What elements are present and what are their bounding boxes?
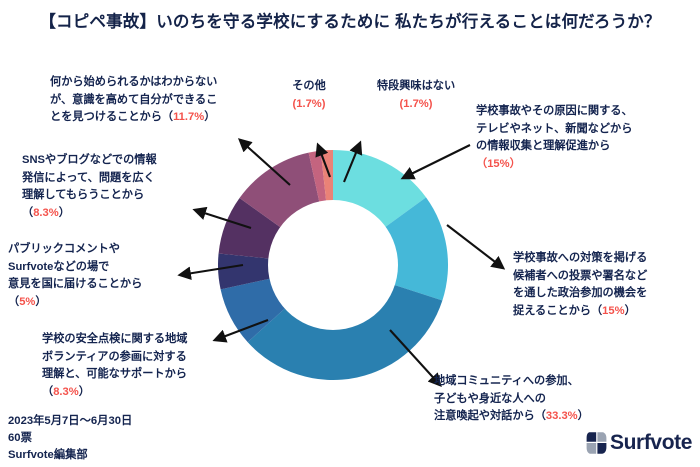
label-public-comment-percent: 5%	[19, 296, 35, 308]
label-no-interest-percent: (1.7%)	[400, 98, 433, 110]
slide-canvas: 【コピペ事故】いのちを守る学校にするために 私たちが行えることは何だろうか？	[0, 0, 700, 467]
surfvote-mark-icon	[586, 430, 607, 456]
arrow-political	[447, 225, 503, 268]
label-volunteer-percent: 8.3%	[53, 386, 79, 398]
donut-chart-svg	[218, 150, 448, 380]
label-sns: SNSやブログなどでの情報 発信によって、問題を広く 理解してもらうことから （…	[22, 152, 198, 223]
surfvote-logo: Surfvote	[586, 430, 692, 456]
label-other: その他 (1.7%)	[262, 78, 356, 113]
label-awareness: 何から始められるかはわからない が、意識を高めて自分ができるこ とを見つけること…	[50, 74, 262, 127]
label-sns-percent: 8.3%	[33, 207, 59, 219]
label-political-percent: 15%	[602, 305, 624, 317]
survey-meta: 2023年5月7日〜6月30日 60票 Surfvote編集部	[8, 413, 132, 464]
label-awareness-percent: 11.7%	[173, 111, 204, 123]
label-volunteer: 学校の安全点検に関する地域 ボランティアの参画に対する 理解と、可能なサポートか…	[42, 331, 238, 402]
label-info-collection: 学校事故やその原因に関する、 テレビやネット、新聞などから の情報収集と理解促進…	[476, 103, 692, 174]
donut-hole	[268, 200, 398, 330]
donut-chart	[218, 150, 448, 380]
label-community-percent: 33.3%	[546, 410, 578, 422]
label-no-interest: 特段興味はない (1.7%)	[352, 78, 480, 113]
label-community: 地域コミュニティへの参加、 子どもや身近な人への 注意喚起や対話から（33.3%…	[434, 373, 674, 426]
surfvote-logo-text: Surfvote	[610, 431, 692, 455]
page-title: 【コピペ事故】いのちを守る学校にするために 私たちが行えることは何だろうか？	[0, 10, 700, 36]
label-public-comment: パブリックコメントや Surfvoteなどの場で 意見を国に届けることから （5…	[8, 241, 190, 312]
label-info-collection-percent: （15%）	[476, 158, 521, 170]
label-other-percent: (1.7%)	[293, 98, 326, 110]
label-political: 学校事故への対策を掲げる 候補者への投票や署名など を通した政治参加の機会を 捉…	[513, 250, 699, 321]
